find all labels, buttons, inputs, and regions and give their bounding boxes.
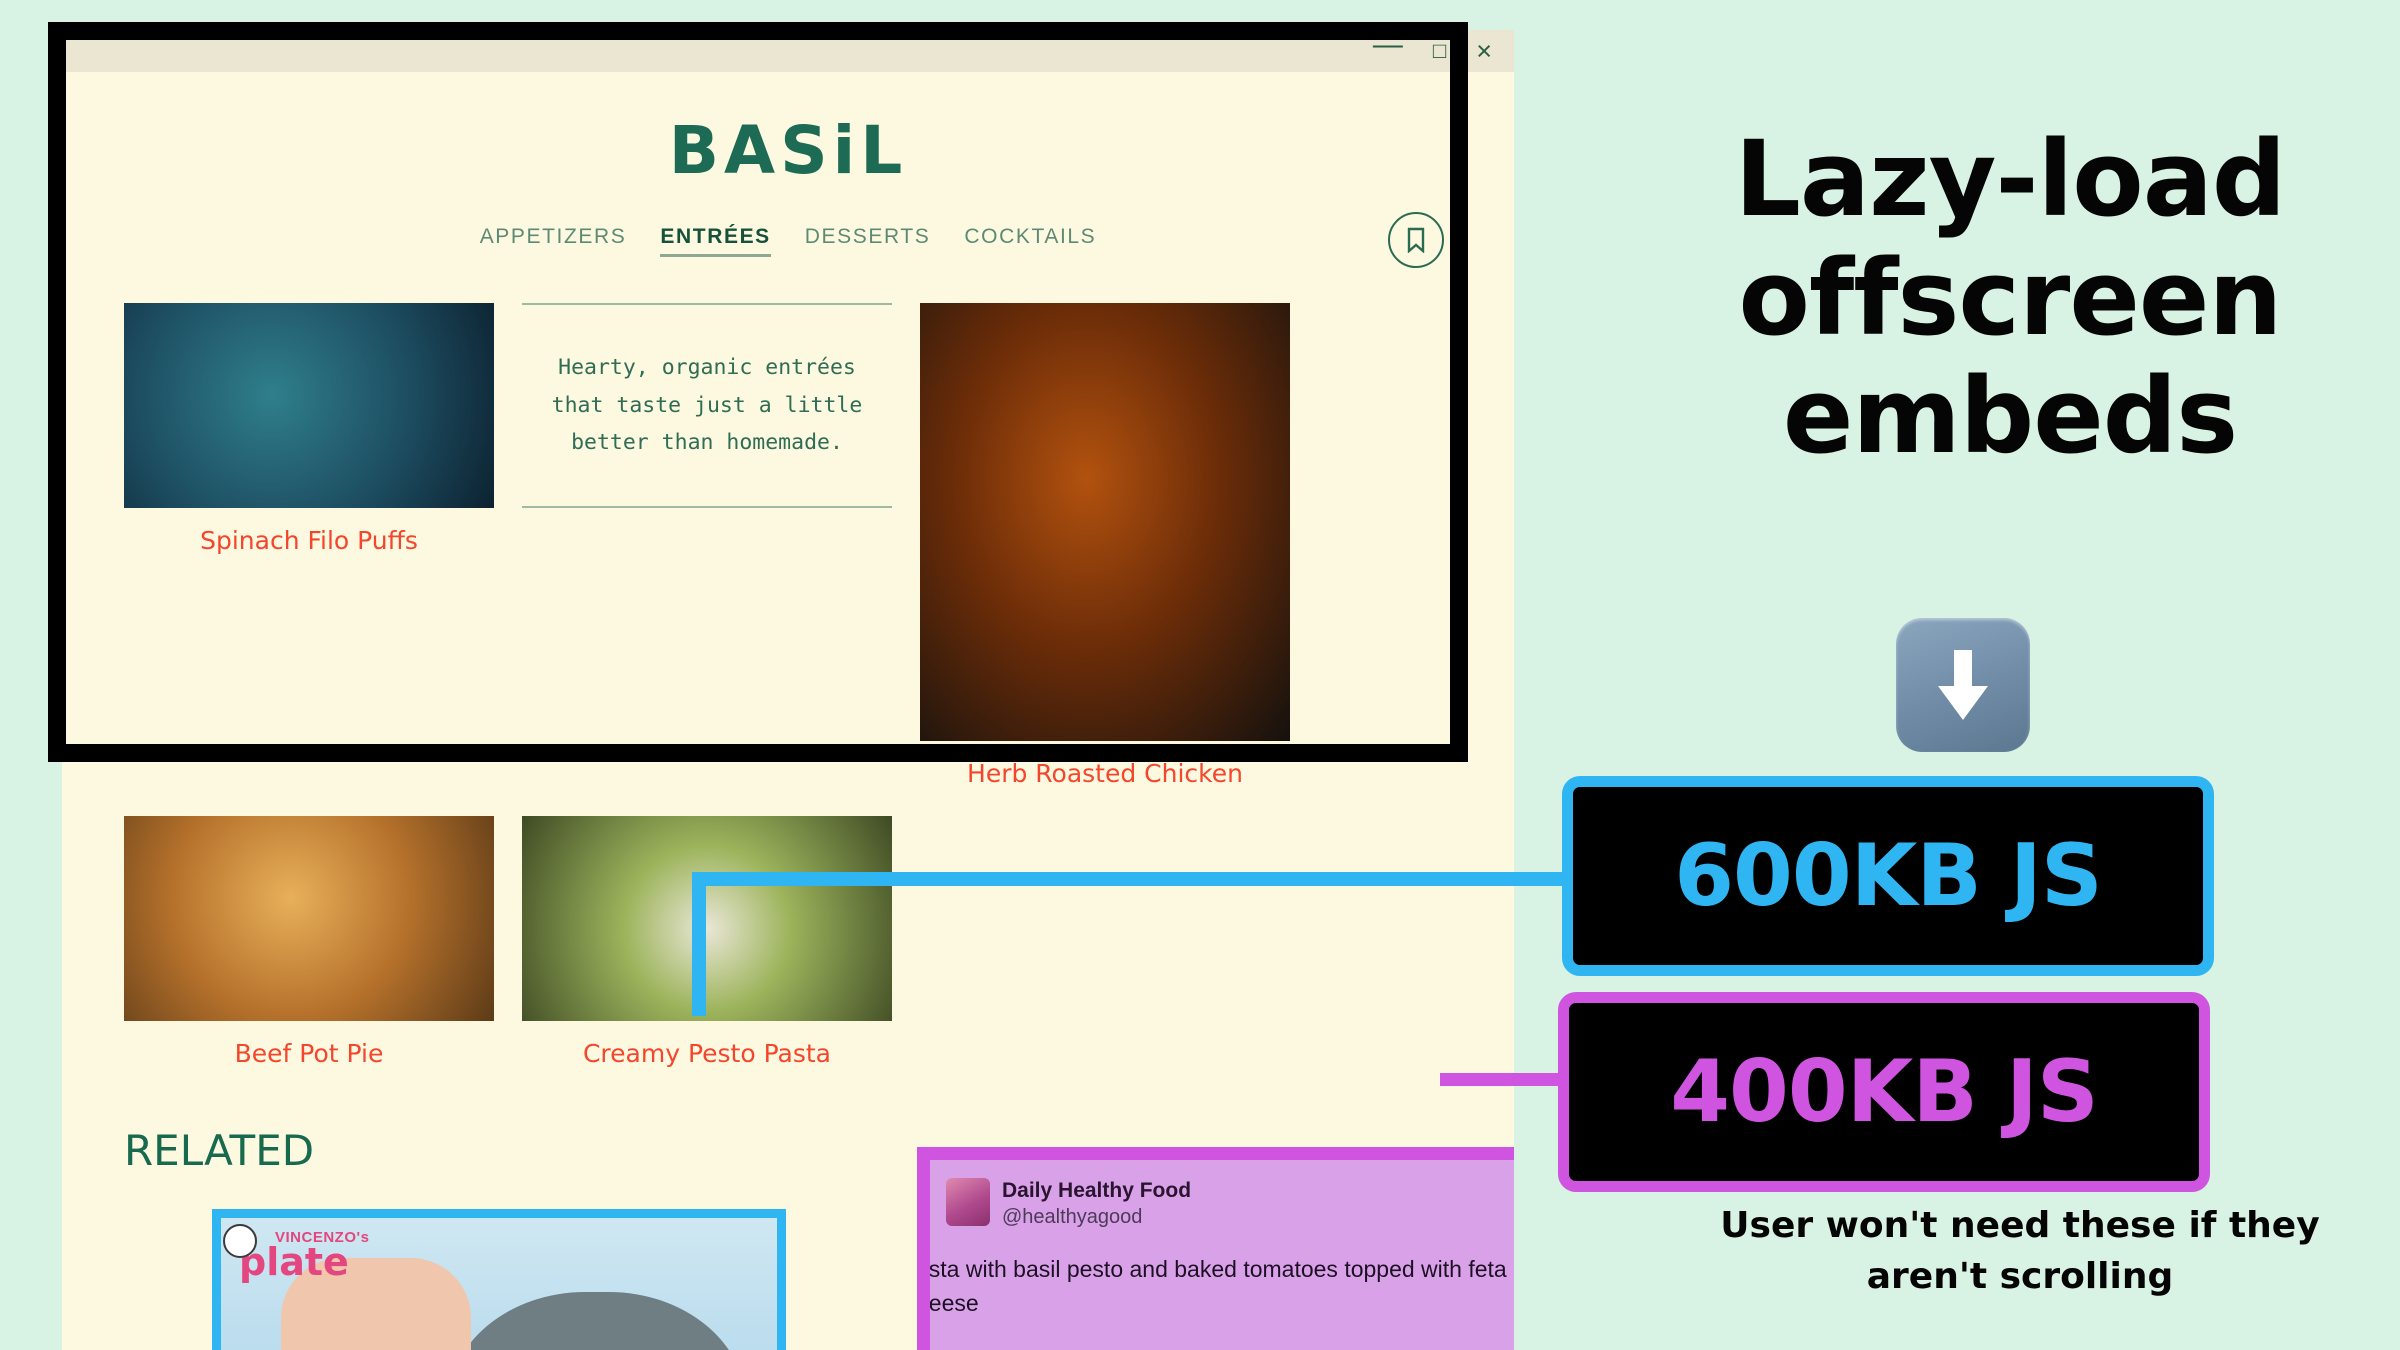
nav-item-appetizers[interactable]: APPETIZERS (480, 225, 627, 257)
dish-card-beef-pot-pie[interactable]: Beef Pot Pie (124, 816, 494, 1068)
tagline-rule-top (522, 303, 892, 305)
tagline-text: Hearty, organic entrées that taste just … (522, 349, 892, 462)
video-channel-logo: VINCENZO's plate (239, 1230, 369, 1281)
dish-card-spinach-filo-puffs[interactable]: Spinach Filo Puffs (124, 303, 494, 788)
close-icon[interactable]: × (1476, 38, 1492, 65)
tweet-display-name: Daily Healthy Food (1002, 1178, 1191, 1203)
dish-image-creamy-pesto-pasta (522, 816, 892, 1021)
connector-cyan-vertical (692, 872, 706, 1016)
browser-page: — □ × BASiL APPETIZERS ENTRÉES DESSERTS … (62, 30, 1514, 1350)
site-nav: APPETIZERS ENTRÉES DESSERTS COCKTAILS (62, 225, 1514, 257)
connector-cyan-horizontal (692, 872, 1572, 886)
tagline-rule-bottom (522, 506, 892, 508)
dish-card-herb-roasted-chicken[interactable]: Herb Roasted Chicken (920, 303, 1290, 788)
menu-row-top: Spinach Filo Puffs Hearty, organic entré… (124, 303, 1452, 788)
tweet-text: asta with basil pesto and baked tomatoes… (917, 1253, 1514, 1320)
nav-item-entrees[interactable]: ENTRÉES (660, 225, 770, 257)
menu-grid: Spinach Filo Puffs Hearty, organic entré… (62, 303, 1514, 1068)
avatar (946, 1178, 990, 1226)
dish-label-herb-roasted-chicken: Herb Roasted Chicken (920, 759, 1290, 788)
bookmark-icon[interactable] (1388, 212, 1444, 268)
dish-label-creamy-pesto-pasta: Creamy Pesto Pasta (522, 1039, 892, 1068)
site-logo[interactable]: BASiL (62, 112, 1514, 189)
status-badge-400kb-js: 400KB JS (1558, 992, 2210, 1192)
dish-label-beef-pot-pie: Beef Pot Pie (124, 1039, 494, 1068)
minimize-icon[interactable]: — (1373, 30, 1403, 60)
tweet-header: Daily Healthy Food @healthyagood (930, 1160, 1514, 1229)
site-content: BASiL APPETIZERS ENTRÉES DESSERTS COCKTA… (62, 112, 1514, 1175)
dish-image-spinach-filo-puffs (124, 303, 494, 508)
nav-item-cocktails[interactable]: COCKTAILS (964, 225, 1096, 257)
video-embed[interactable]: VINCENZO's plate (212, 1209, 786, 1350)
window-titlebar: — □ × (62, 30, 1514, 72)
connector-magenta-horizontal (1440, 1073, 1570, 1086)
nav-item-desserts[interactable]: DESSERTS (805, 225, 931, 257)
video-channel-avatar-icon (223, 1224, 257, 1258)
tweet-embed[interactable]: Daily Healthy Food @healthyagood asta wi… (917, 1147, 1514, 1350)
tweet-handle: @healthyagood (1002, 1206, 1191, 1229)
tagline-line-3: better than homemade. (522, 424, 892, 462)
dish-card-creamy-pesto-pasta[interactable]: Creamy Pesto Pasta (522, 816, 892, 1068)
dish-label-spinach-filo-puffs: Spinach Filo Puffs (124, 526, 494, 555)
tagline-line-2: that taste just a little (522, 387, 892, 425)
download-arrow-icon (1896, 618, 2030, 752)
page-title: Lazy-load offscreen embeds (1660, 120, 2360, 476)
grid-spacer (920, 816, 1290, 1068)
screenshot-root: — □ × BASiL APPETIZERS ENTRÉES DESSERTS … (0, 0, 2400, 1350)
maximize-icon[interactable]: □ (1433, 40, 1446, 62)
footnote-text: User won't need these if they aren't scr… (1660, 1200, 2380, 1302)
tagline-line-1: Hearty, organic entrées (522, 349, 892, 387)
video-channel-main: plate (239, 1243, 369, 1281)
tagline-panel: Hearty, organic entrées that taste just … (522, 303, 892, 508)
status-badge-600kb-js: 600KB JS (1562, 776, 2214, 976)
menu-row-bottom: Beef Pot Pie Creamy Pesto Pasta (124, 816, 1452, 1068)
dish-image-beef-pot-pie (124, 816, 494, 1021)
dish-image-herb-roasted-chicken (920, 303, 1290, 741)
